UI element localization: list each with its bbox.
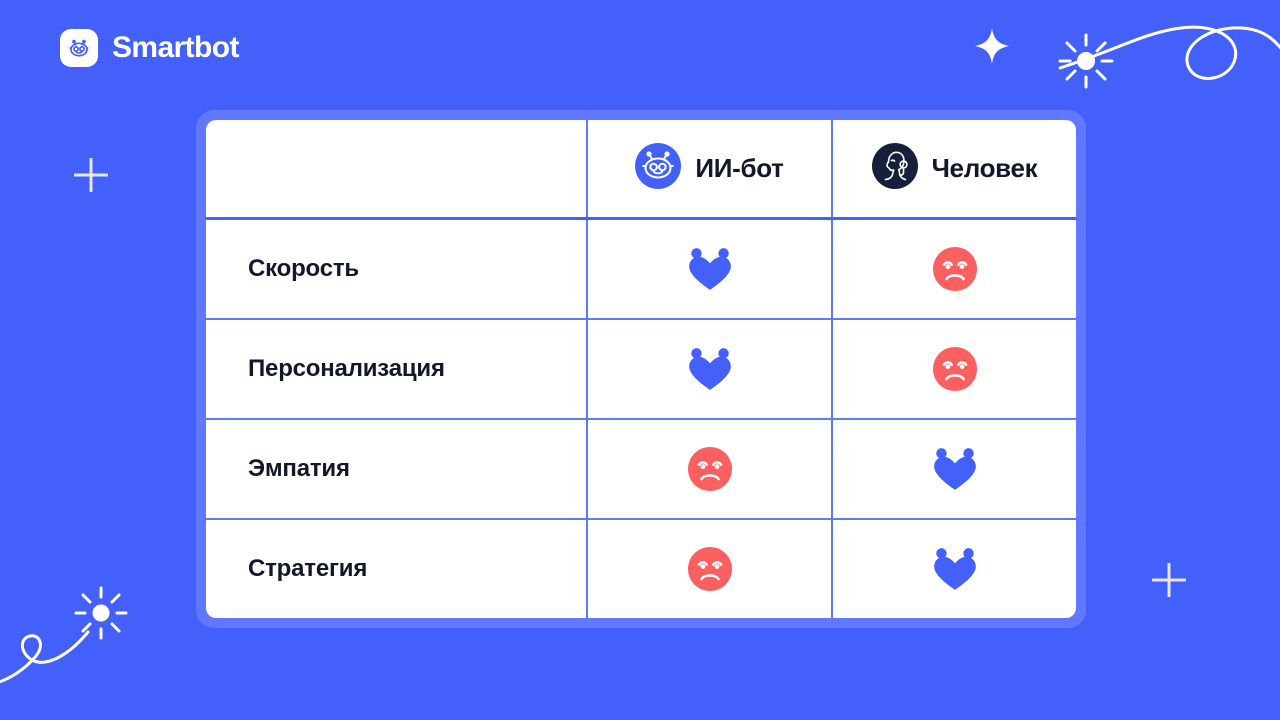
four-point-star-sparkle-icon <box>975 28 1009 64</box>
table-header-row: ИИ-бот <box>206 120 1076 220</box>
row-label: Стратегия <box>248 555 367 583</box>
rating-cell-ai-bot <box>586 220 831 318</box>
smartbot-robot-logo-icon <box>60 29 98 67</box>
comparison-table-card: ИИ-бот <box>196 110 1086 628</box>
plus-sparkle-icon-right <box>1152 563 1186 597</box>
table-row: Персонализация <box>206 318 1076 418</box>
row-label-cell: Скорость <box>206 220 586 318</box>
comparison-table: ИИ-бот <box>206 120 1076 618</box>
plus-sparkle-icon-left <box>74 158 108 192</box>
table-row: Скорость <box>206 220 1076 318</box>
rating-cell-human <box>831 320 1076 418</box>
rating-cell-ai-bot <box>586 420 831 518</box>
robot-heart-icon <box>685 244 735 294</box>
squiggle-icon-bottom-left <box>0 598 122 688</box>
row-label-cell: Стратегия <box>206 520 586 618</box>
rating-cell-ai-bot <box>586 320 831 418</box>
row-label: Эмпатия <box>248 455 350 483</box>
header-cell-ai-bot: ИИ-бот <box>586 120 831 217</box>
header-human-label: Человек <box>932 153 1038 184</box>
sunburst-sparkle-icon-top-right <box>1056 32 1116 90</box>
rating-cell-human <box>831 220 1076 318</box>
squiggle-icon-top-right <box>1046 6 1280 96</box>
rating-cell-human <box>831 520 1076 618</box>
rating-cell-ai-bot <box>586 520 831 618</box>
row-label: Скорость <box>248 255 359 283</box>
row-label-cell: Эмпатия <box>206 420 586 518</box>
table-row: Эмпатия <box>206 418 1076 518</box>
robot-heart-icon <box>685 344 735 394</box>
ai-bot-avatar-icon <box>635 143 681 194</box>
table-row: Стратегия <box>206 518 1076 618</box>
robot-heart-icon <box>930 544 980 594</box>
rating-cell-human <box>831 420 1076 518</box>
header-ai-bot-label: ИИ-бот <box>695 153 783 184</box>
sad-face-icon <box>932 346 978 392</box>
header-cell-human: Человек <box>831 120 1076 217</box>
human-operator-avatar-icon <box>872 143 918 194</box>
brand-logo[interactable]: Smartbot <box>60 29 239 67</box>
sunburst-sparkle-icon-bottom-left <box>72 585 130 641</box>
header-cell-criterion <box>206 120 586 217</box>
robot-heart-icon <box>930 444 980 494</box>
row-label: Персонализация <box>248 355 445 383</box>
row-label-cell: Персонализация <box>206 320 586 418</box>
sad-face-icon <box>687 446 733 492</box>
sad-face-icon <box>687 546 733 592</box>
sad-face-icon <box>932 246 978 292</box>
brand-name: Smartbot <box>112 31 239 65</box>
